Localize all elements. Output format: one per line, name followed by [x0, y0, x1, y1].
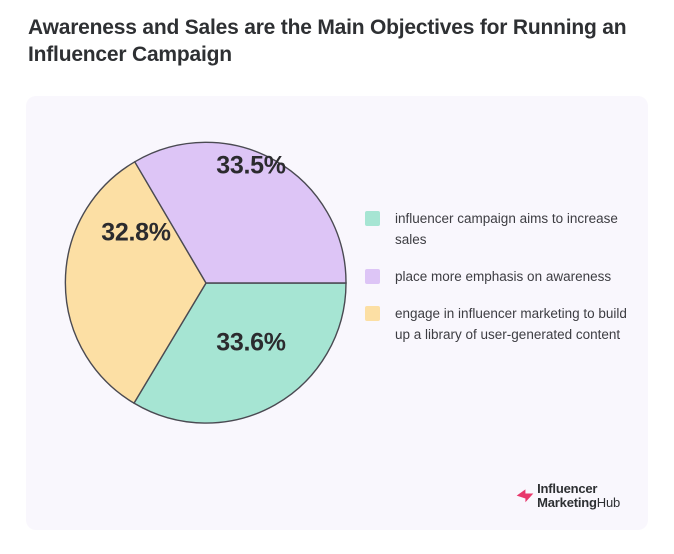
- pie-label-awareness: 33.5%: [216, 152, 285, 180]
- brand-logo-hub: Hub: [597, 495, 620, 510]
- brand-logo-line-influencer: Influencer: [537, 482, 620, 496]
- legend-item-user-generated-content[interactable]: engage in influencer marketing to build …: [365, 304, 640, 346]
- pie-label-increase-sales: 33.6%: [216, 329, 285, 357]
- brand-logo: Influencer MarketingHub: [515, 482, 620, 510]
- legend-item-increase-sales[interactable]: influencer campaign aims to increase sal…: [365, 209, 640, 251]
- legend-label-increase-sales: influencer campaign aims to increase sal…: [395, 209, 640, 251]
- legend-item-awareness[interactable]: place more emphasis on awareness: [365, 267, 640, 288]
- legend: influencer campaign aims to increase sal…: [365, 209, 640, 362]
- page-title: Awareness and Sales are the Main Objecti…: [28, 14, 638, 69]
- brand-logo-line-marketinghub: MarketingHub: [537, 496, 620, 510]
- influencer-arrow-icon: [515, 486, 535, 506]
- legend-label-user-generated-content: engage in influencer marketing to build …: [395, 304, 640, 346]
- brand-logo-marketing: Marketing: [537, 495, 597, 510]
- legend-swatch-icon-increase-sales: [365, 211, 380, 226]
- pie-chart-svg: 33.5% 32.8% 33.6%: [41, 118, 371, 448]
- legend-swatch-icon-user-generated-content: [365, 306, 380, 321]
- brand-logo-text: Influencer MarketingHub: [537, 482, 620, 510]
- pie-label-user-generated-content: 32.8%: [101, 219, 170, 247]
- legend-swatch-icon-awareness: [365, 269, 380, 284]
- legend-label-awareness: place more emphasis on awareness: [395, 267, 611, 288]
- chart-card: 33.5% 32.8% 33.6% influencer campaign ai…: [26, 96, 648, 530]
- pie-chart: 33.5% 32.8% 33.6%: [26, 96, 386, 530]
